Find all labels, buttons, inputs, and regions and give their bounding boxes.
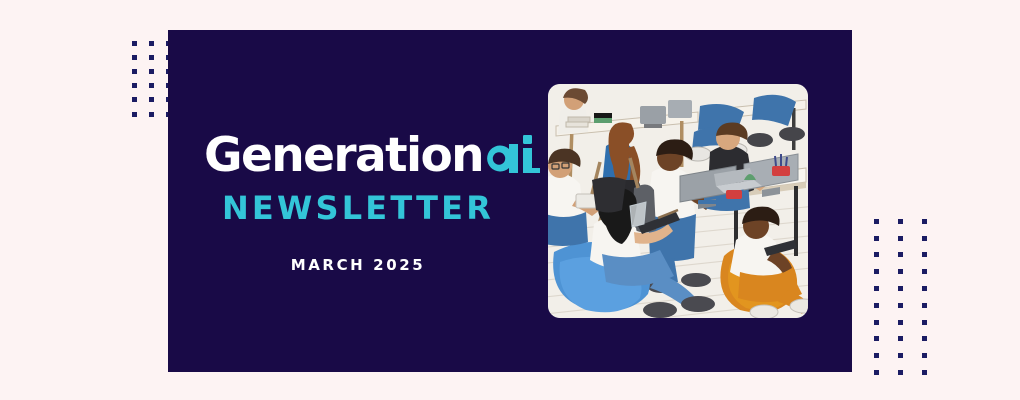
decorative-dot xyxy=(898,370,903,375)
decorative-dot xyxy=(922,236,927,241)
decorative-dot xyxy=(898,353,903,358)
decorative-dot xyxy=(922,252,927,257)
newsletter-label: NEWSLETTER xyxy=(168,192,548,224)
decorative-dot xyxy=(132,97,137,102)
decorative-dot xyxy=(874,336,879,341)
generation-ai-logomark-icon xyxy=(484,130,542,178)
issue-date: MARCH 2025 xyxy=(168,258,548,273)
decorative-dot xyxy=(922,269,927,274)
brand-logo-word: Generation xyxy=(204,132,483,179)
decorative-dot xyxy=(898,219,903,224)
decorative-dot xyxy=(874,252,879,257)
decorative-dot xyxy=(922,320,927,325)
decorative-dot xyxy=(149,55,154,60)
decorative-dot xyxy=(898,236,903,241)
decorative-dot xyxy=(874,320,879,325)
decorative-dot xyxy=(922,219,927,224)
decorative-dot xyxy=(898,269,903,274)
decorative-dot xyxy=(132,83,137,88)
decorative-dot xyxy=(132,55,137,60)
decorative-dot xyxy=(149,69,154,74)
decorative-dot xyxy=(898,336,903,341)
decorative-dot xyxy=(149,97,154,102)
decorative-dot xyxy=(874,370,879,375)
hero-illustration xyxy=(548,84,808,318)
decorative-dot xyxy=(132,41,137,46)
decorative-dot xyxy=(874,303,879,308)
decorative-dot xyxy=(874,269,879,274)
decorative-dot xyxy=(922,353,927,358)
decorative-dot xyxy=(149,112,154,117)
decorative-dot xyxy=(149,83,154,88)
classroom-students-illustration-icon xyxy=(548,84,808,318)
decorative-dot xyxy=(132,69,137,74)
decorative-dot xyxy=(922,286,927,291)
decorative-dot xyxy=(922,336,927,341)
decorative-dot xyxy=(874,353,879,358)
decorative-dot xyxy=(874,286,879,291)
decorative-dot-grid-right xyxy=(864,213,936,381)
decorative-dot xyxy=(898,320,903,325)
decorative-dot xyxy=(874,219,879,224)
newsletter-banner: Generation NEWSLETTER MARCH 2025 xyxy=(0,0,1020,400)
decorative-dot xyxy=(898,286,903,291)
decorative-dot xyxy=(898,252,903,257)
decorative-dot xyxy=(922,303,927,308)
headline-text-block: Generation NEWSLETTER MARCH 2025 xyxy=(168,30,548,372)
decorative-dot xyxy=(874,236,879,241)
navy-panel: Generation NEWSLETTER MARCH 2025 xyxy=(168,30,852,372)
decorative-dot xyxy=(922,370,927,375)
decorative-dot xyxy=(132,112,137,117)
decorative-dot xyxy=(898,303,903,308)
brand-logo: Generation xyxy=(204,130,542,179)
decorative-dot xyxy=(149,41,154,46)
